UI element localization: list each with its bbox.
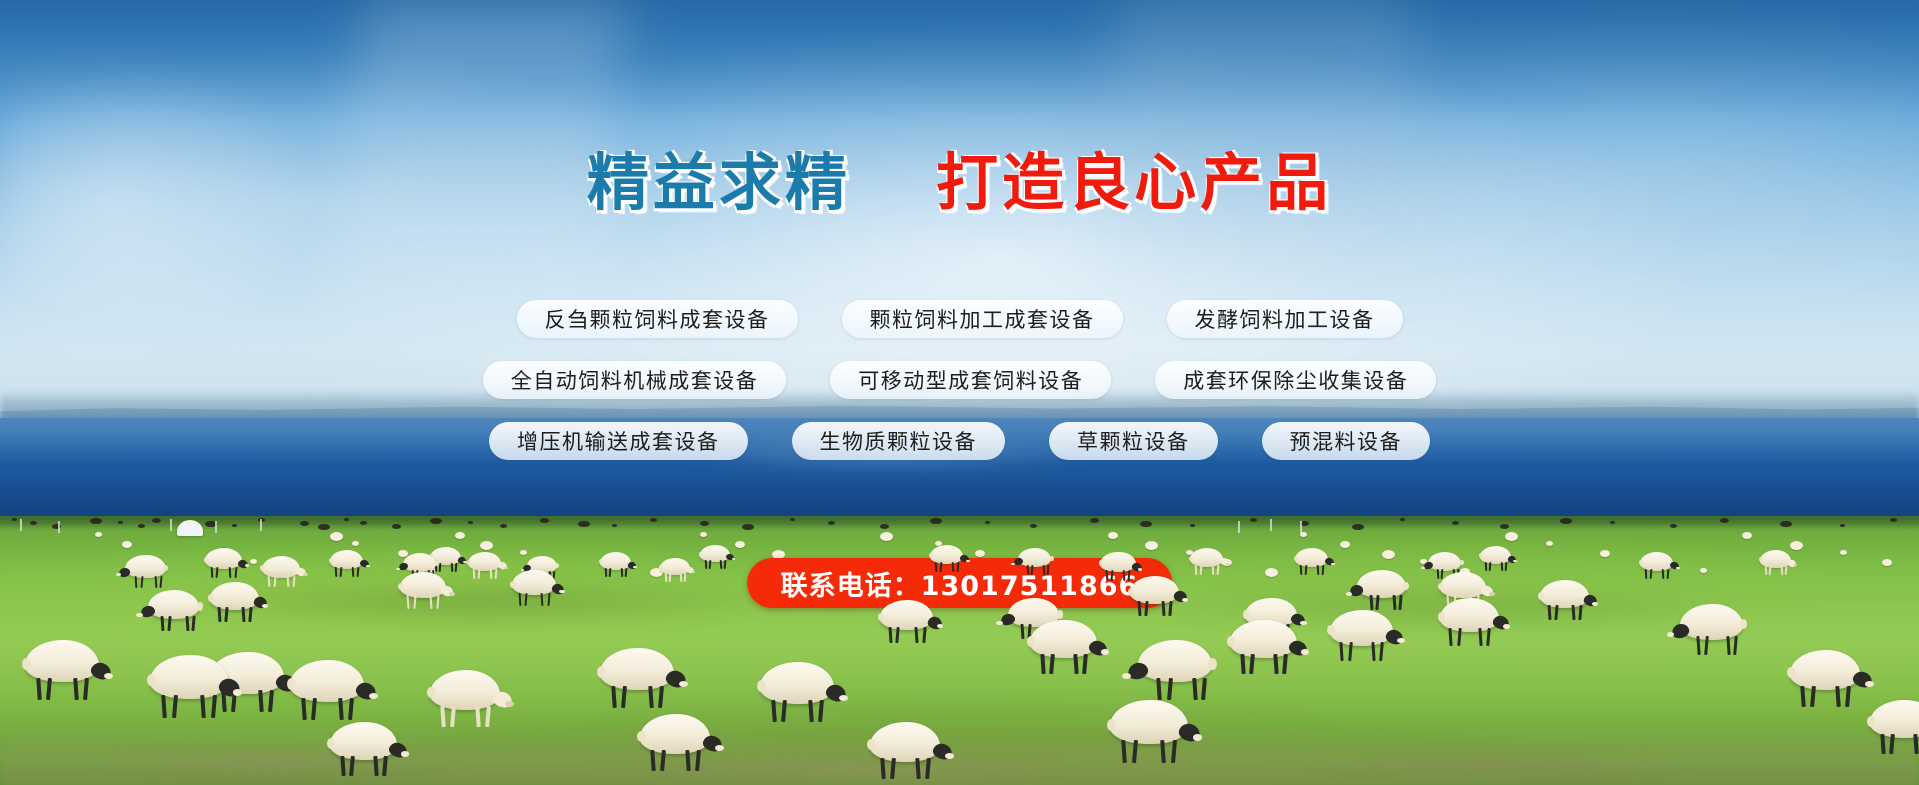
sheep — [1120, 640, 1220, 706]
sheep — [205, 548, 255, 581]
sheep — [1640, 552, 1685, 582]
product-tag-rows: 反刍颗粒饲料成套设备 颗粒饲料加工成套设备 发酵饲料加工设备 全自动饲料机械成套… — [0, 300, 1919, 483]
sheep — [700, 545, 740, 571]
sheep — [870, 722, 965, 785]
sheep — [1665, 604, 1750, 660]
sheep — [1295, 548, 1340, 578]
sheep — [330, 722, 420, 781]
sheep — [1010, 548, 1055, 578]
sheep — [1110, 700, 1215, 769]
sheep — [1345, 570, 1411, 614]
sheep — [468, 552, 513, 582]
sheep — [660, 558, 700, 584]
sheep — [1330, 610, 1415, 666]
sheep — [115, 555, 170, 591]
sheep — [512, 570, 572, 610]
tag-row-3: 增压机输送成套设备 生物质颗粒设备 草颗粒设备 预混料设备 — [0, 422, 1919, 460]
sheep — [430, 670, 525, 733]
sheep — [640, 714, 735, 777]
sheep — [1540, 580, 1606, 624]
product-tag[interactable]: 预混料设备 — [1262, 422, 1431, 460]
sheep — [1870, 700, 1919, 759]
sheep — [880, 600, 952, 648]
sheep — [290, 660, 390, 726]
tag-row-2: 全自动饲料机械成套设备 可移动型成套饲料设备 成套环保除尘收集设备 — [0, 361, 1919, 399]
sheep — [1030, 620, 1120, 679]
product-tag[interactable]: 增压机输送成套设备 — [489, 422, 748, 460]
tag-row-1: 反刍颗粒饲料成套设备 颗粒饲料加工成套设备 发酵饲料加工设备 — [0, 300, 1919, 338]
product-tag[interactable]: 发酵饲料加工设备 — [1167, 300, 1403, 338]
product-tag[interactable]: 草颗粒设备 — [1049, 422, 1218, 460]
sheep — [600, 552, 642, 580]
headline: 精益求精 打造良心产品 — [0, 152, 1919, 214]
product-tag[interactable]: 反刍颗粒饲料成套设备 — [517, 300, 798, 338]
sheep — [400, 572, 462, 613]
sheep — [1760, 550, 1802, 578]
sheep — [1230, 620, 1320, 679]
sheep — [150, 655, 255, 724]
promo-banner: 精益求精 打造良心产品 反刍颗粒饲料成套设备 颗粒饲料加工成套设备 发酵饲料加工… — [0, 0, 1919, 785]
product-tag[interactable]: 成套环保除尘收集设备 — [1155, 361, 1436, 399]
sheep — [1190, 548, 1235, 578]
sheep — [210, 582, 276, 626]
sheep — [330, 550, 375, 580]
product-tag[interactable]: 生物质颗粒设备 — [792, 422, 1006, 460]
product-tag[interactable]: 可移动型成套饲料设备 — [830, 361, 1111, 399]
sheep — [1440, 598, 1520, 651]
sheep — [1480, 546, 1522, 574]
sheep — [600, 648, 700, 714]
sheep — [760, 662, 860, 728]
headline-red-text: 打造良心产品 — [936, 146, 1332, 219]
headline-blue-text: 精益求精 — [587, 146, 851, 219]
product-tag[interactable]: 全自动饲料机械成套设备 — [483, 361, 787, 399]
product-tag[interactable]: 颗粒饲料加工成套设备 — [842, 300, 1123, 338]
sheep — [930, 545, 975, 575]
sheep — [135, 590, 205, 636]
sheep — [1130, 576, 1196, 620]
sheep — [25, 640, 125, 706]
